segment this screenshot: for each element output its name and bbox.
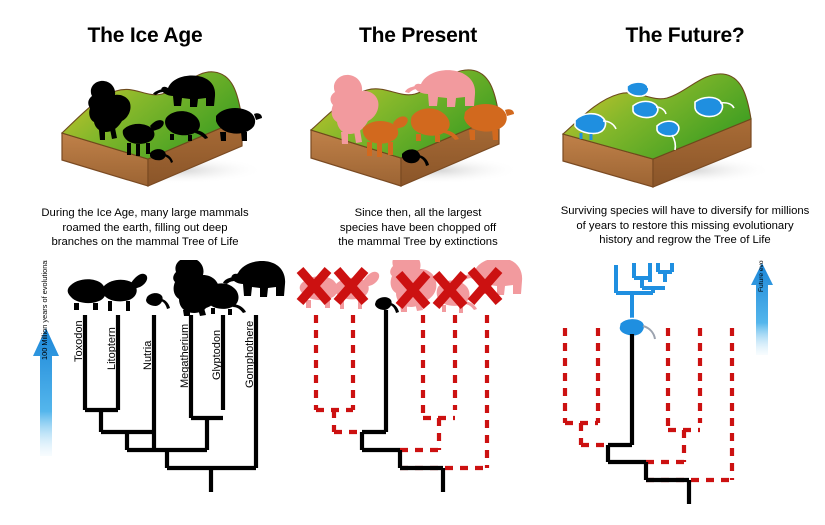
caption-line: history and regrow the Tree of Life — [525, 233, 825, 248]
future-landscape — [545, 58, 825, 188]
glyptodon-silhouette — [206, 283, 246, 315]
evolutionary-history-arrow: 100 Million years of evolutionary histor… — [33, 260, 59, 456]
caption-ice-age: During the Ice Age, many large mammals r… — [0, 206, 290, 250]
caption-line: the mammal Tree by extinctions — [283, 235, 553, 250]
infographic-root: The Ice Age — [0, 0, 825, 520]
caption-present: Since then, all the largest species have… — [283, 206, 553, 250]
panel-title-future: The Future? — [545, 24, 825, 48]
panel-ice-age: The Ice Age — [0, 0, 290, 260]
future-species-3 — [627, 82, 656, 96]
caption-line: of years to restore this missing evoluti… — [525, 219, 825, 234]
tree-future: Future evolution — [540, 260, 825, 520]
nutria-future-silhouette — [619, 318, 655, 339]
tree-ice-age: 100 Million years of evolutionary histor… — [0, 260, 300, 520]
future-evolution-arrow: Future evolution — [751, 260, 773, 355]
present-landscape — [283, 58, 553, 188]
caption-line: branches on the mammal Tree of Life — [0, 235, 290, 250]
caption-line: Surviving species will have to diversify… — [525, 204, 825, 219]
toxodon-silhouette — [68, 279, 106, 310]
future-evolution-arrow-label: Future evolution — [758, 260, 765, 292]
surviving-branches — [608, 334, 689, 504]
caption-line: During the Ice Age, many large mammals — [0, 206, 290, 221]
extinct-branches — [316, 315, 487, 468]
panel-title-present: The Present — [283, 24, 553, 48]
litoptern-silhouette — [104, 274, 147, 311]
caption-line: Since then, all the largest — [283, 206, 553, 221]
extinct-branches — [565, 328, 732, 480]
future-diversification-subtree — [616, 263, 672, 322]
caption-line: roamed the earth, filling out deep — [0, 221, 290, 236]
evolutionary-history-arrow-label: 100 Million years of evolutionary histor… — [40, 260, 49, 360]
nutria-silhouette — [146, 293, 170, 309]
panel-present: The Present — [283, 0, 553, 260]
surviving-branches — [362, 310, 443, 492]
ice-age-landscape — [0, 58, 290, 188]
caption-line: species have been chopped off — [283, 221, 553, 236]
panel-title-ice-age: The Ice Age — [0, 24, 290, 48]
tree-present — [295, 260, 550, 520]
caption-future: Surviving species will have to diversify… — [525, 204, 825, 248]
panel-future: The Future? — [545, 0, 825, 260]
